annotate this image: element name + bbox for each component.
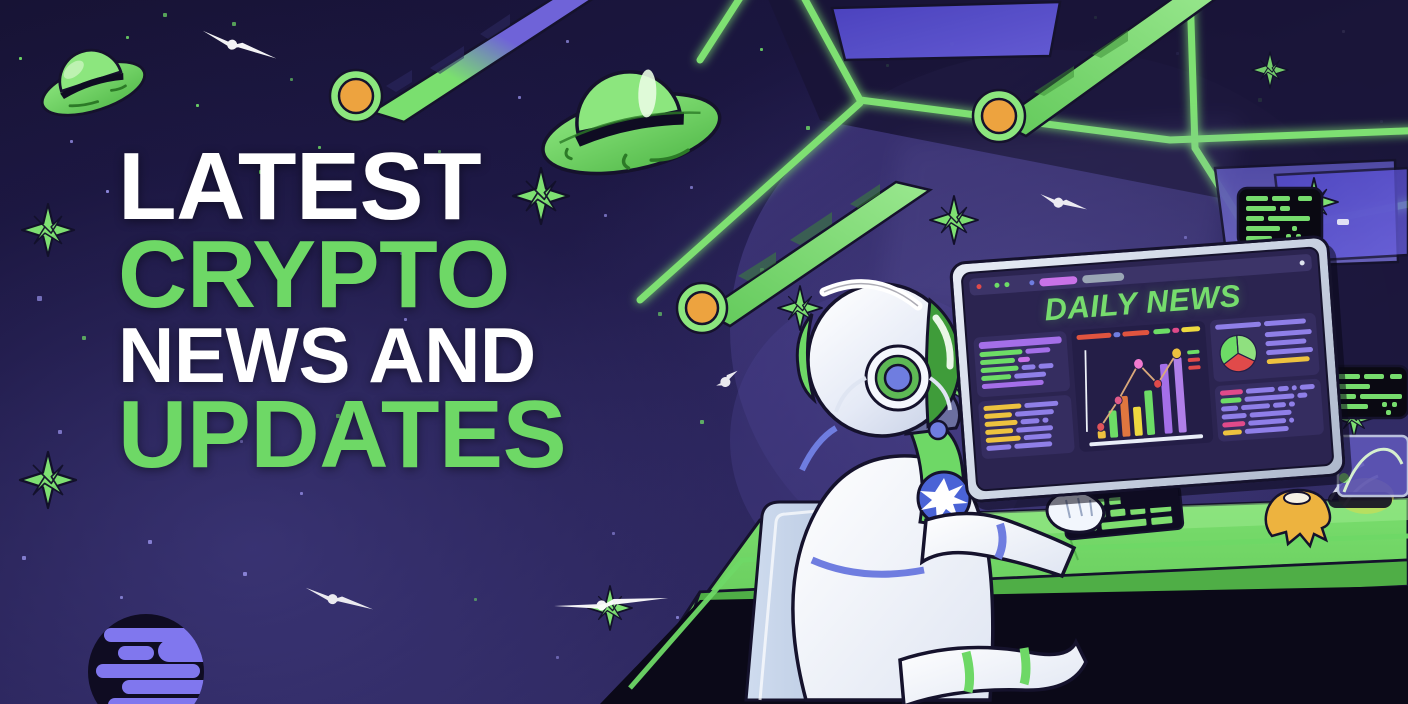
headline-line-1: LATEST	[118, 143, 566, 231]
market-chart-svg	[1077, 334, 1207, 440]
allocation-pie-svg	[1215, 330, 1262, 377]
crypto-news-banner: LATEST CRYPTO NEWS AND UPDATES	[0, 0, 1408, 704]
monitor-screen[interactable]: DAILY NEWS	[960, 246, 1334, 492]
chrome-dot-close[interactable]	[976, 284, 981, 289]
article-list-panel[interactable]	[973, 331, 1070, 398]
chart-legend	[1187, 350, 1201, 370]
left-column	[973, 331, 1075, 459]
ticker-list-panel[interactable]	[978, 395, 1075, 459]
market-chart-panel[interactable]	[1071, 321, 1213, 452]
news-feed-panel[interactable]	[1214, 378, 1324, 442]
chrome-url-pill[interactable]	[1082, 272, 1124, 283]
chrome-tab-pill[interactable]	[1039, 275, 1077, 286]
headline-line-4: UPDATES	[118, 391, 566, 479]
chrome-dot-tab[interactable]	[1029, 280, 1034, 285]
right-column	[1209, 313, 1324, 442]
chrome-dot-min[interactable]	[994, 283, 999, 288]
page-title: LATEST CRYPTO NEWS AND UPDATES	[118, 143, 566, 480]
chart-canvas	[1077, 334, 1207, 440]
headline-line-2: CRYPTO	[118, 231, 566, 319]
allocation-pie-panel[interactable]	[1209, 313, 1320, 383]
monitor[interactable]: DAILY NEWS	[949, 234, 1347, 503]
chrome-menu-dot[interactable]	[1299, 260, 1304, 265]
dashboard-panels	[967, 308, 1331, 466]
chrome-dot-max[interactable]	[1004, 282, 1009, 287]
pie-area	[1215, 326, 1314, 377]
